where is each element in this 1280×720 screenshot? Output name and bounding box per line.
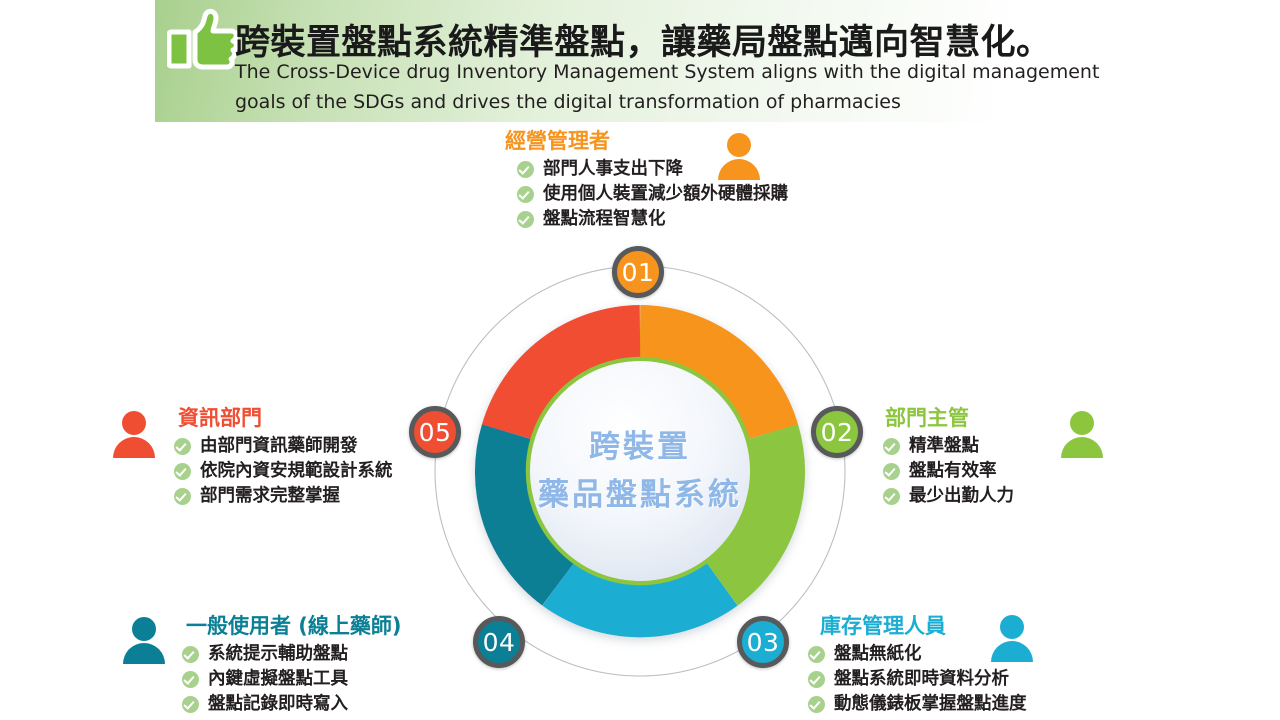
list-item: 盤點有效率 bbox=[883, 459, 1014, 484]
item-label: 部門人事支出下降 bbox=[543, 157, 683, 182]
group-title-02: 部門主管 bbox=[885, 407, 1014, 430]
list-item: 盤點記錄即時寫入 bbox=[182, 692, 402, 717]
list-item: 部門需求完整掌握 bbox=[174, 484, 393, 509]
step-badge-03[interactable]: 03 bbox=[737, 616, 789, 668]
check-icon bbox=[808, 646, 825, 663]
group-items-03: 盤點無紙化 盤點系統即時資料分析 動態儀錶板掌握盤點進度 bbox=[808, 642, 1027, 717]
group-title-03: 庫存管理人員 bbox=[820, 615, 1027, 638]
item-label: 系統提示輔助盤點 bbox=[208, 642, 348, 667]
list-item: 由部門資訊藥師開發 bbox=[174, 434, 393, 459]
check-icon bbox=[517, 161, 534, 178]
thumbs-up-icon bbox=[167, 8, 245, 70]
step-badge-02[interactable]: 02 bbox=[811, 406, 863, 458]
header-subtitle-line1: The Cross-Device drug Inventory Manageme… bbox=[235, 61, 1099, 83]
check-icon bbox=[182, 646, 199, 663]
list-item: 依院內資安規範設計系統 bbox=[174, 459, 393, 484]
item-label: 使用個人裝置減少額外硬體採購 bbox=[543, 182, 788, 207]
list-item: 系統提示輔助盤點 bbox=[182, 642, 402, 667]
list-item: 部門人事支出下降 bbox=[517, 157, 788, 182]
group-items-05: 由部門資訊藥師開發 依院內資安規範設計系統 部門需求完整掌握 bbox=[174, 434, 393, 509]
stakeholder-group-04: 一般使用者 (線上藥師) 系統提示輔助盤點 內鍵虛擬盤點工具 盤點記錄即時寫入 bbox=[186, 615, 402, 717]
item-label: 最少出勤人力 bbox=[909, 484, 1014, 509]
check-icon bbox=[883, 438, 900, 455]
list-item: 盤點無紙化 bbox=[808, 642, 1027, 667]
group-items-04: 系統提示輔助盤點 內鍵虛擬盤點工具 盤點記錄即時寫入 bbox=[182, 642, 402, 717]
check-icon bbox=[517, 186, 534, 203]
item-label: 內鍵虛擬盤點工具 bbox=[208, 667, 348, 692]
header-banner: 跨裝置盤點系統精準盤點，讓藥局盤點邁向智慧化。 The Cross-Device… bbox=[155, 0, 1155, 122]
item-label: 盤點系統即時資料分析 bbox=[834, 667, 1009, 692]
header-subtitle-line2: goals of the SDGs and drives the digital… bbox=[235, 91, 901, 113]
item-label: 盤點有效率 bbox=[909, 459, 997, 484]
check-icon bbox=[883, 488, 900, 505]
list-item: 內鍵虛擬盤點工具 bbox=[182, 667, 402, 692]
check-icon bbox=[182, 671, 199, 688]
item-label: 盤點記錄即時寫入 bbox=[208, 692, 348, 717]
list-item: 使用個人裝置減少額外硬體採購 bbox=[517, 182, 788, 207]
person-icon-it-department bbox=[110, 410, 158, 458]
step-badge-01[interactable]: 01 bbox=[612, 246, 664, 298]
person-icon-supervisor bbox=[1058, 410, 1106, 458]
stakeholder-group-05: 資訊部門 由部門資訊藥師開發 依院內資安規範設計系統 部門需求完整掌握 bbox=[178, 407, 393, 509]
step-badge-05[interactable]: 05 bbox=[409, 406, 461, 458]
item-label: 盤點流程智慧化 bbox=[543, 207, 666, 232]
page-title: 跨裝置盤點系統精準盤點，讓藥局盤點邁向智慧化。 bbox=[235, 14, 1052, 65]
group-title-05: 資訊部門 bbox=[178, 407, 393, 430]
item-label: 動態儀錶板掌握盤點進度 bbox=[834, 692, 1027, 717]
item-label: 盤點無紙化 bbox=[834, 642, 922, 667]
check-icon bbox=[808, 696, 825, 713]
stakeholder-group-02: 部門主管 精準盤點 盤點有效率 最少出勤人力 bbox=[885, 407, 1014, 509]
check-icon bbox=[808, 671, 825, 688]
list-item: 動態儀錶板掌握盤點進度 bbox=[808, 692, 1027, 717]
ring-segment-03 bbox=[559, 583, 721, 609]
center-disc bbox=[530, 361, 750, 581]
list-item: 盤點系統即時資料分析 bbox=[808, 667, 1027, 692]
stakeholder-group-03: 庫存管理人員 盤點無紙化 盤點系統即時資料分析 動態儀錶板掌握盤點進度 bbox=[808, 615, 1027, 717]
group-items-02: 精準盤點 盤點有效率 最少出勤人力 bbox=[883, 434, 1014, 509]
check-icon bbox=[182, 696, 199, 713]
group-title-01: 經營管理者 bbox=[505, 130, 788, 153]
group-items-01: 部門人事支出下降 使用個人裝置減少額外硬體採購 盤點流程智慧化 bbox=[517, 157, 788, 232]
check-icon bbox=[174, 463, 191, 480]
group-title-04: 一般使用者 (線上藥師) bbox=[186, 615, 402, 638]
item-label: 由部門資訊藥師開發 bbox=[200, 434, 358, 459]
list-item: 精準盤點 bbox=[883, 434, 1014, 459]
stakeholder-group-01: 經營管理者 部門人事支出下降 使用個人裝置減少額外硬體採購 盤點流程智慧化 bbox=[505, 130, 788, 232]
check-icon bbox=[517, 211, 534, 228]
item-label: 精準盤點 bbox=[909, 434, 979, 459]
check-icon bbox=[174, 438, 191, 455]
item-label: 依院內資安規範設計系統 bbox=[200, 459, 393, 484]
person-icon-general-user bbox=[120, 616, 168, 664]
step-badge-04[interactable]: 04 bbox=[473, 616, 525, 668]
list-item: 盤點流程智慧化 bbox=[517, 207, 788, 232]
check-icon bbox=[883, 463, 900, 480]
list-item: 最少出勤人力 bbox=[883, 484, 1014, 509]
item-label: 部門需求完整掌握 bbox=[200, 484, 340, 509]
check-icon bbox=[174, 488, 191, 505]
